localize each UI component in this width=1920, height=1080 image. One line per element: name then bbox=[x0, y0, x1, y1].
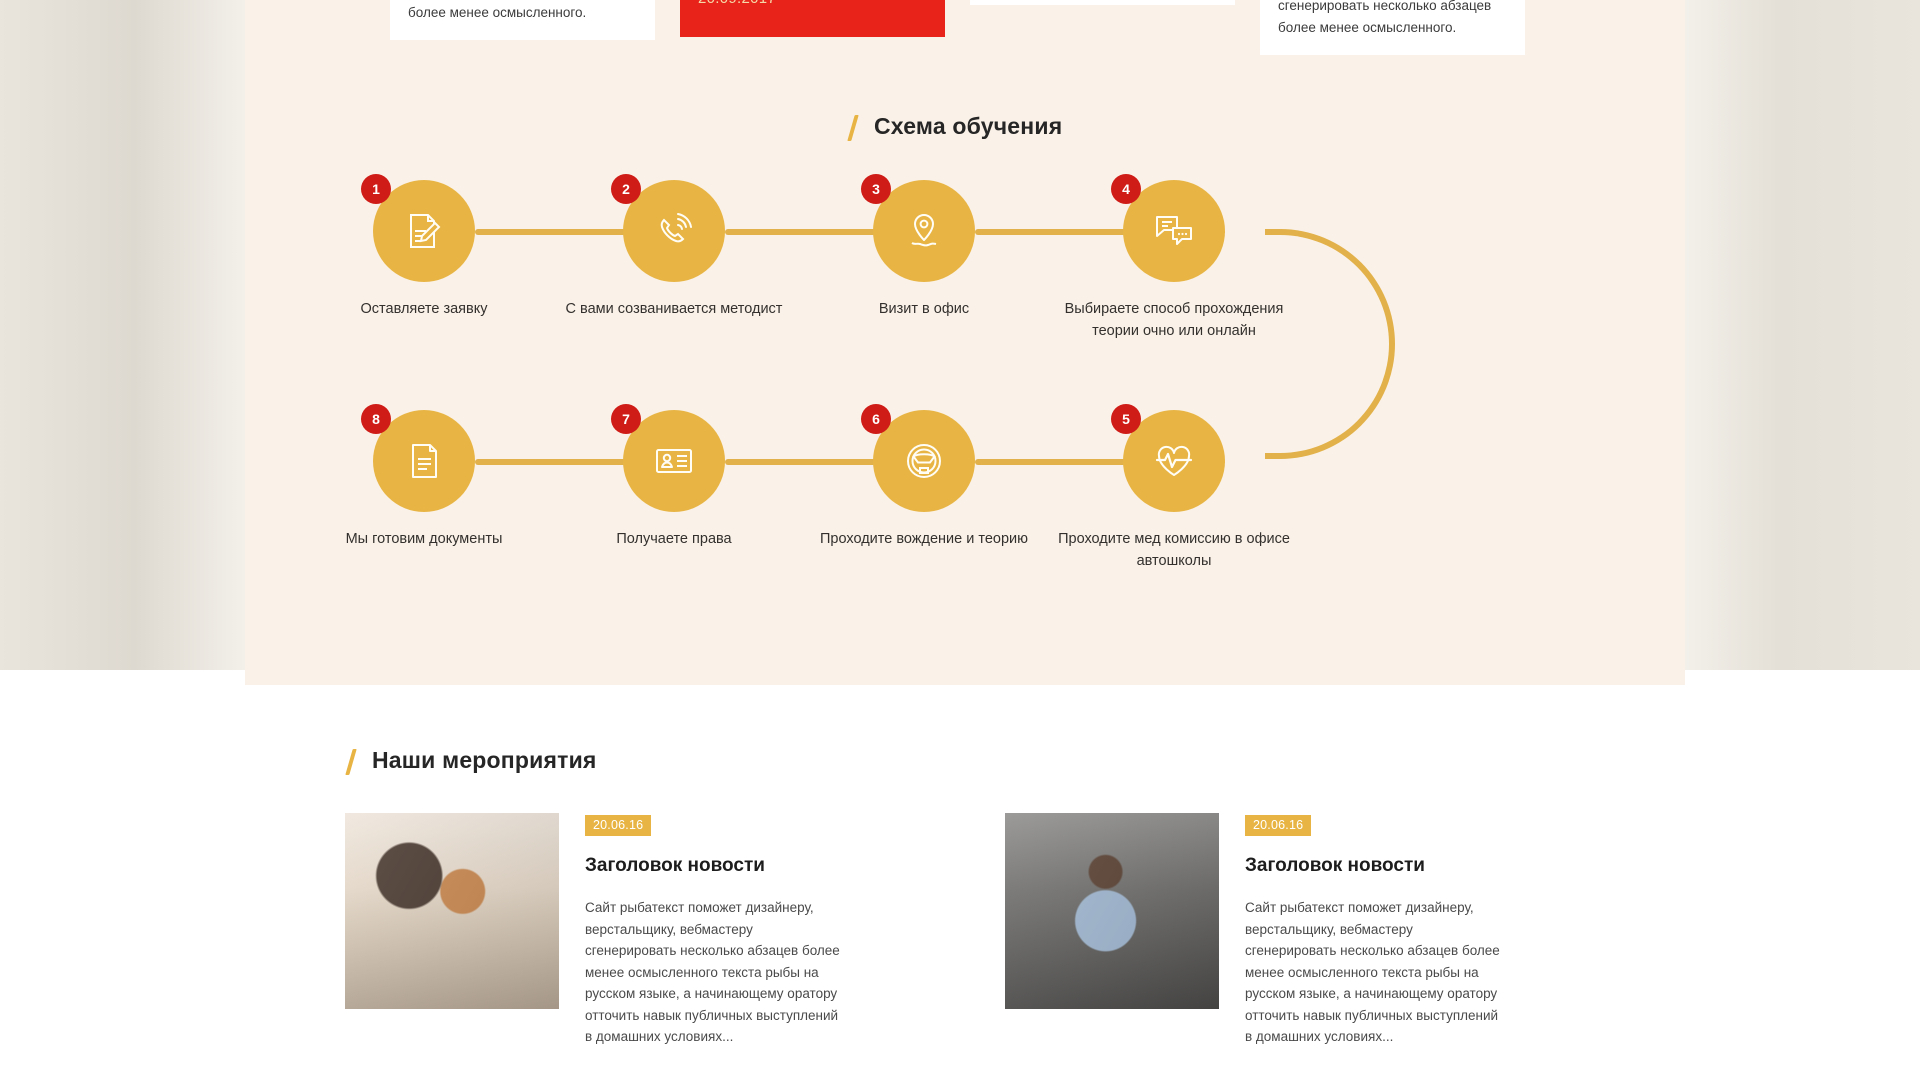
site-viewport: более менее осмысленного. 20.09.2017 сге… bbox=[245, 0, 1685, 1080]
slash-icon bbox=[847, 114, 860, 140]
step-2-label: С вами созванивается методист bbox=[543, 298, 805, 320]
desktop-background-right bbox=[1685, 0, 1920, 670]
top-card-4-line2: более менее осмысленного. bbox=[1278, 17, 1509, 39]
scheme-heading: Схема обучения bbox=[847, 113, 1062, 140]
document-pencil-icon bbox=[402, 209, 446, 253]
step-4-label: Выбираете способ прохождения теории очно… bbox=[1043, 298, 1305, 342]
scheme-section: более менее осмысленного. 20.09.2017 сге… bbox=[245, 0, 1685, 685]
step-5-number: 5 bbox=[1111, 404, 1141, 434]
top-card-2-highlighted[interactable]: 20.09.2017 bbox=[680, 0, 945, 37]
news-item-body: 20.06.16 Заголовок новости Сайт рыбатекс… bbox=[585, 813, 945, 1048]
news-list: 20.06.16 Заголовок новости Сайт рыбатекс… bbox=[345, 813, 1605, 1048]
news-item-title[interactable]: Заголовок новости bbox=[585, 855, 945, 877]
step-3-number: 3 bbox=[861, 174, 891, 204]
status-badge: 20.06.16 bbox=[1245, 815, 1311, 836]
news-heading: Наши мероприятия bbox=[345, 747, 597, 774]
status-badge: 20.06.16 bbox=[585, 815, 651, 836]
id-card-icon bbox=[651, 438, 697, 484]
top-card-4-text: сгенерировать несколько абзацев более ме… bbox=[1278, 0, 1509, 39]
step-3-label: Визит в офис bbox=[793, 298, 1055, 320]
step-1-label: Оставляете заявку bbox=[293, 298, 555, 320]
heart-pulse-icon bbox=[1151, 438, 1197, 484]
news-item-title[interactable]: Заголовок новости bbox=[1245, 855, 1605, 877]
scheme-step-4[interactable]: 4 Выбирает bbox=[1123, 180, 1225, 282]
top-card-4-line1: сгенерировать несколько абзацев bbox=[1278, 0, 1509, 17]
chat-bubbles-icon bbox=[1151, 208, 1197, 254]
desktop-background-left bbox=[0, 0, 245, 670]
top-card-2-date: 20.09.2017 bbox=[698, 0, 776, 7]
map-pin-icon bbox=[902, 209, 946, 253]
step-7-label: Получаете права bbox=[543, 528, 805, 550]
step-2-number: 2 bbox=[611, 174, 641, 204]
top-card-1-text: более менее осмысленного. bbox=[408, 2, 639, 24]
news-section: Наши мероприятия 20.06.16 Заголовок ново… bbox=[245, 685, 1685, 1080]
scheme-step-2[interactable]: 2 С вами созванивается методист bbox=[623, 180, 725, 282]
document-lines-icon bbox=[402, 439, 446, 483]
step-5-label: Проходите мед комиссию в офисе автошколы bbox=[1043, 528, 1305, 572]
news-item-text: Сайт рыбатекст поможет дизайнеру, верста… bbox=[1245, 897, 1501, 1048]
news-item[interactable]: 20.06.16 Заголовок новости Сайт рыбатекс… bbox=[345, 813, 945, 1048]
step-8-number: 8 bbox=[361, 404, 391, 434]
step-8-label: Мы готовим документы bbox=[293, 528, 555, 550]
steering-wheel-icon bbox=[901, 438, 947, 484]
top-card-1[interactable]: более менее осмысленного. bbox=[390, 0, 655, 40]
page-root: более менее осмысленного. 20.09.2017 сге… bbox=[0, 0, 1920, 1080]
news-item-text: Сайт рыбатекст поможет дизайнеру, верста… bbox=[585, 897, 841, 1048]
man-with-car-photo bbox=[1005, 813, 1219, 1009]
step-6-number: 6 bbox=[861, 404, 891, 434]
scheme-step-7[interactable]: 7 Получаете права bbox=[623, 410, 725, 512]
news-item[interactable]: 20.06.16 Заголовок новости Сайт рыбатекс… bbox=[1005, 813, 1605, 1048]
scheme-step-1[interactable]: 1 Оставляете заявку bbox=[373, 180, 475, 282]
scheme-diagram: 1 Оставляете заявку 2 bbox=[245, 180, 1685, 600]
top-card-4[interactable]: сгенерировать несколько абзацев более ме… bbox=[1260, 0, 1525, 55]
step-6-label: Проходите вождение и теорию bbox=[793, 528, 1055, 550]
scheme-step-5[interactable]: 5 Проходите мед комиссию в офисе автошко… bbox=[1123, 410, 1225, 512]
phone-call-icon bbox=[652, 209, 696, 253]
step-4-number: 4 bbox=[1111, 174, 1141, 204]
scheme-step-6[interactable]: 6 Проходите вождение и теорию bbox=[873, 410, 975, 512]
top-card-3[interactable] bbox=[970, 0, 1235, 5]
scheme-heading-text: Схема обучения bbox=[874, 113, 1062, 140]
slash-icon bbox=[345, 748, 358, 774]
news-heading-text: Наши мероприятия bbox=[372, 747, 597, 774]
step-7-number: 7 bbox=[611, 404, 641, 434]
connector-4-5-curve bbox=[1265, 229, 1395, 459]
news-item-body: 20.06.16 Заголовок новости Сайт рыбатекс… bbox=[1245, 813, 1605, 1048]
step-1-number: 1 bbox=[361, 174, 391, 204]
scheme-step-3[interactable]: 3 Визит в офис bbox=[873, 180, 975, 282]
scheme-step-8[interactable]: 8 Мы готовим документы bbox=[373, 410, 475, 512]
couple-driving-car-photo bbox=[345, 813, 559, 1009]
